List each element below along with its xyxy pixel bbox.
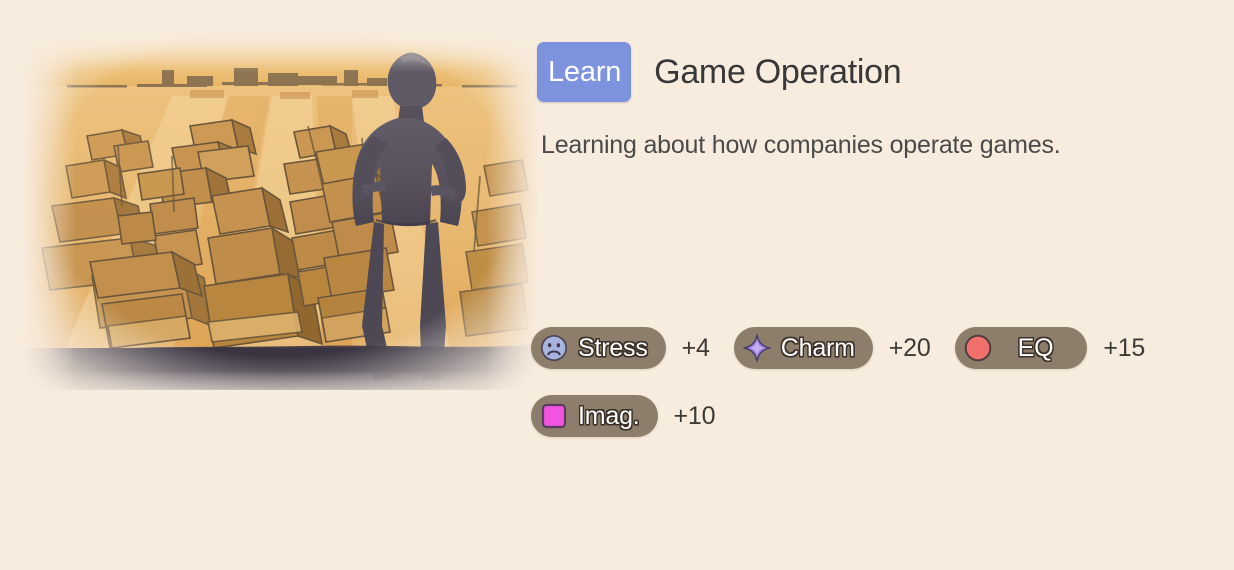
- stat-label-imagination: Imag.: [578, 402, 640, 431]
- stat-entry-stress[interactable]: Stress +4: [531, 327, 710, 369]
- stat-pill-charm[interactable]: Charm: [734, 327, 873, 369]
- stat-entry-imagination[interactable]: Imag. +10: [531, 395, 715, 437]
- stat-value-stress: +4: [682, 334, 710, 363]
- illustration-panel: [22, 26, 540, 390]
- magenta-square-icon: [540, 402, 568, 430]
- stat-value-eq: +15: [1103, 334, 1145, 363]
- sparkle-star-icon: [743, 334, 771, 362]
- description-text: Learning about how companies operate gam…: [541, 131, 1061, 160]
- red-circle-icon: [964, 334, 992, 362]
- header: Learn Game Operation: [537, 42, 997, 102]
- sad-face-icon: [540, 334, 568, 362]
- stat-label-eq: EQ: [1018, 334, 1054, 363]
- stat-row: Stress +4 Charm +20: [531, 324, 1234, 372]
- page-title: Game Operation: [631, 42, 901, 102]
- stat-label-charm: Charm: [781, 334, 855, 363]
- stat-pill-stress[interactable]: Stress: [531, 327, 666, 369]
- stat-entry-eq[interactable]: EQ +15: [955, 327, 1146, 369]
- stat-pill-eq[interactable]: EQ: [955, 327, 1088, 369]
- stat-label-stress: Stress: [578, 334, 648, 363]
- stat-badges: Stress +4 Charm +20: [531, 324, 1234, 460]
- stat-value-charm: +20: [889, 334, 931, 363]
- stat-entry-charm[interactable]: Charm +20: [734, 327, 931, 369]
- learn-tag[interactable]: Learn: [537, 42, 631, 102]
- stat-row: Imag. +10: [531, 392, 1234, 440]
- stat-value-imagination: +10: [674, 402, 716, 431]
- stat-pill-imagination[interactable]: Imag.: [531, 395, 658, 437]
- warehouse-worker-illustration: [22, 26, 540, 390]
